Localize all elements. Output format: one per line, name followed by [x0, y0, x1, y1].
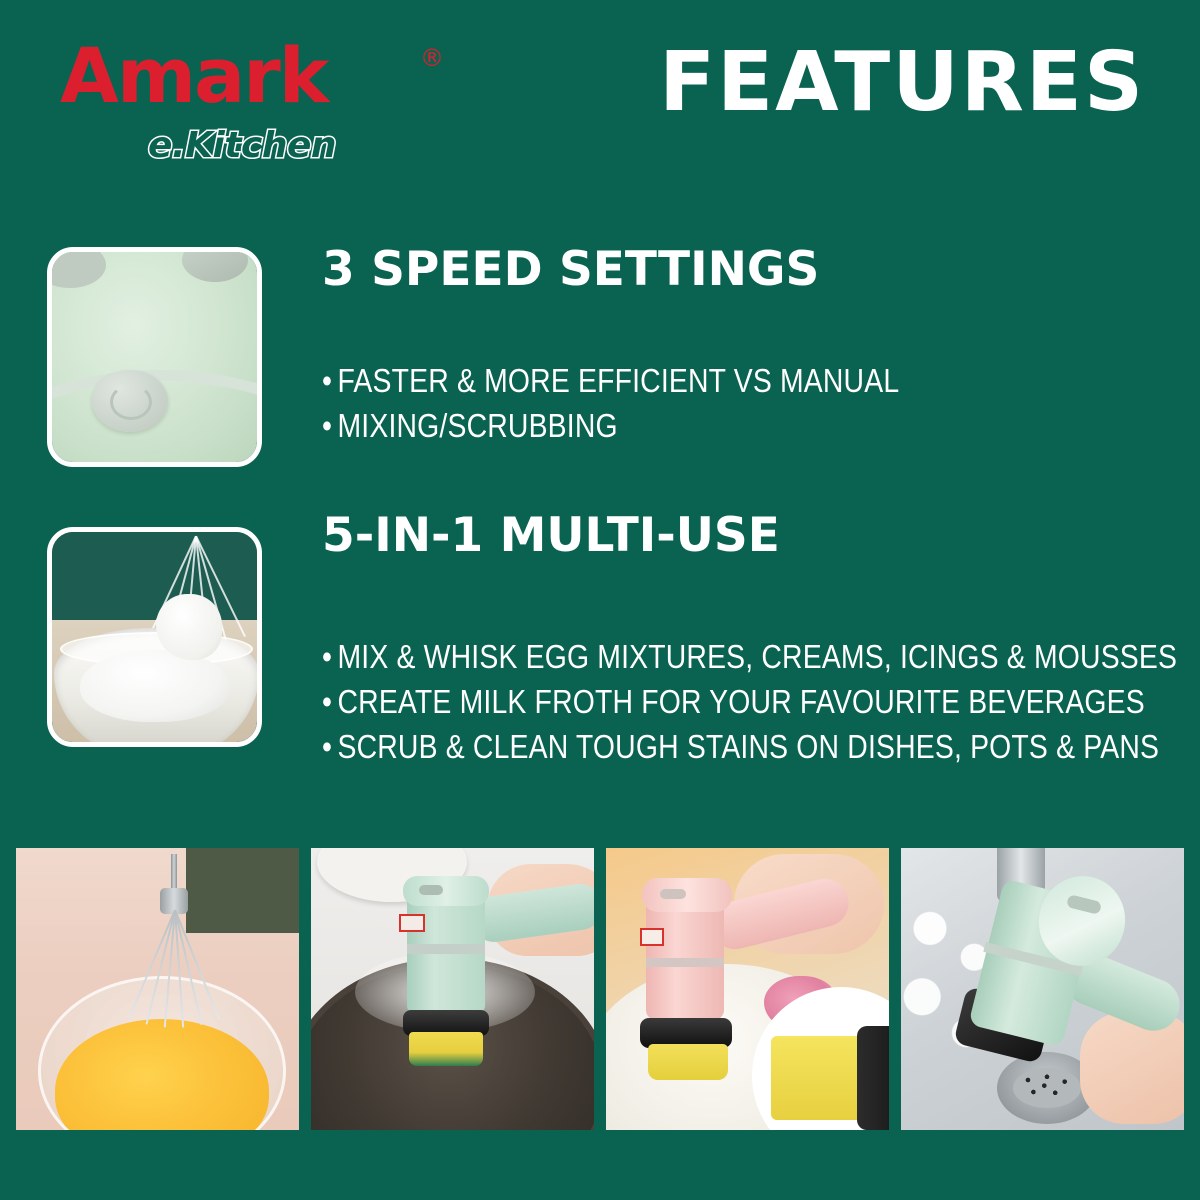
- bullet-text: MIXING/SCRUBBING: [337, 407, 617, 444]
- device-top-power-button-photo: [52, 252, 257, 462]
- product-photo-gallery: [16, 848, 1184, 1130]
- hand: [1080, 1012, 1184, 1124]
- brand-sub-label: e.Kitchen: [148, 124, 336, 167]
- device-top-cap: [403, 876, 489, 906]
- brand-label-icon: [640, 928, 664, 946]
- feature-thumbnail-multi-use: [47, 527, 262, 747]
- inset-hub: [857, 1026, 889, 1130]
- beaten-eggs: [55, 1019, 269, 1130]
- product-feature-infographic: Amark ® e.Kitchen FEATURES 3 SPEED SETTI…: [0, 0, 1200, 1200]
- bullet-text: MIX & WHISK EGG MIXTURES, CREAMS, ICINGS…: [337, 638, 1177, 675]
- sponge-attachment: [409, 1032, 483, 1066]
- list-item: •MIX & WHISK EGG MIXTURES, CREAMS, ICING…: [322, 634, 1177, 679]
- bullet-marker-icon: •: [322, 724, 337, 769]
- bullet-text: CREATE MILK FROTH FOR YOUR FAVOURITE BEV…: [337, 683, 1144, 720]
- bullet-marker-icon: •: [322, 358, 337, 403]
- whisk-whipped-cream-bowl-photo: [52, 532, 257, 742]
- feature-heading-1: 3 SPEED SETTINGS: [322, 246, 819, 293]
- photo-whisk-beaten-eggs-bowl: [16, 848, 299, 1130]
- device-top-cap: [642, 878, 732, 912]
- list-item: •MIXING/SCRUBBING: [322, 403, 899, 448]
- brand-logo: Amark ® e.Kitchen: [60, 38, 460, 168]
- bullet-text: SCRUB & CLEAN TOUGH STAINS ON DISHES, PO…: [337, 728, 1159, 765]
- list-item: •FASTER & MORE EFFICIENT VS MANUAL: [322, 358, 899, 403]
- feature-bullets-1: •FASTER & MORE EFFICIENT VS MANUAL •MIXI…: [322, 358, 993, 448]
- inset-sponge: [771, 1036, 863, 1120]
- list-item: •CREATE MILK FROTH FOR YOUR FAVOURITE BE…: [322, 679, 1177, 724]
- header: Amark ® e.Kitchen FEATURES: [0, 0, 1200, 200]
- device-band: [646, 958, 724, 967]
- bullet-marker-icon: •: [322, 403, 337, 448]
- cream-blob: [156, 594, 222, 660]
- device-band: [407, 944, 485, 954]
- glass-bowl: [54, 628, 257, 742]
- sponge-attachment: [648, 1044, 728, 1080]
- whisk-attachment-icon: [132, 854, 216, 1032]
- brand-label-icon: [399, 914, 425, 932]
- bullet-marker-icon: •: [322, 679, 337, 724]
- feature-heading-2: 5-IN-1 MULTI-USE: [322, 512, 780, 559]
- photo-pink-scrubber-floral-plate: [606, 848, 889, 1130]
- page-title: FEATURES: [659, 42, 1145, 124]
- bullet-text: FASTER & MORE EFFICIENT VS MANUAL: [337, 362, 899, 399]
- list-item: •SCRUB & CLEAN TOUGH STAINS ON DISHES, P…: [322, 724, 1177, 769]
- bullet-marker-icon: •: [322, 634, 337, 679]
- feature-thumbnail-speed-settings: [47, 247, 262, 467]
- power-button-icon: [92, 370, 168, 432]
- photo-mint-scrubber-rinsing-sink: [901, 848, 1184, 1130]
- registered-trademark-icon: ®: [420, 44, 444, 72]
- feature-bullets-2: •MIX & WHISK EGG MIXTURES, CREAMS, ICING…: [322, 634, 1200, 769]
- photo-mint-scrubber-frying-pan: [311, 848, 594, 1130]
- brand-wordmark: Amark: [60, 38, 327, 114]
- whipped-cream: [80, 650, 230, 722]
